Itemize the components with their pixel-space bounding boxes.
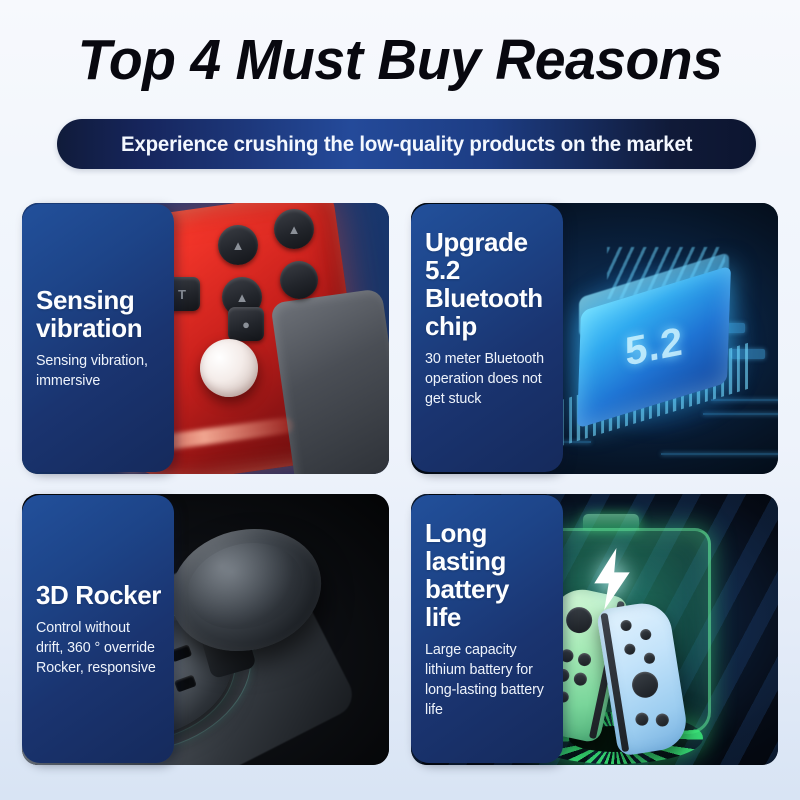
card-panel-sensing-vibration: Sensing vibration Sensing vibration, imm… xyxy=(22,204,174,472)
page-title: Top 4 Must Buy Reasons xyxy=(12,26,788,94)
feature-card-bluetooth-chip[interactable]: 5.2 Upgrade 5.2 Bluetooth chip 30 meter … xyxy=(411,203,778,474)
feature-card-battery-life[interactable]: Long lasting battery life Large capacity… xyxy=(411,494,778,765)
card-title: 3D Rocker xyxy=(36,581,174,609)
card-panel-bluetooth-chip: Upgrade 5.2 Bluetooth chip 30 meter Blue… xyxy=(411,204,563,472)
lightning-bolt-icon xyxy=(589,548,635,610)
page-header: Top 4 Must Buy Reasons Experience crushi… xyxy=(0,0,800,185)
feature-card-grid: ▲ ▲ ▲ T ● Sensing vibration Sensing vibr… xyxy=(22,203,778,765)
subtitle-banner: Experience crushing the low-quality prod… xyxy=(57,119,756,169)
feature-card-3d-rocker[interactable]: 3D Rocker Control without drift, 360 ° o… xyxy=(22,494,389,765)
card-description: Control without drift, 360 ° override Ro… xyxy=(36,618,174,678)
card-title: Sensing vibration xyxy=(36,286,174,342)
card-description: Large capacity lithium battery for long-… xyxy=(425,640,563,720)
card-description: 30 meter Bluetooth operation does not ge… xyxy=(425,349,563,409)
chip-version-label: 5.2 xyxy=(623,319,684,375)
feature-card-sensing-vibration[interactable]: ▲ ▲ ▲ T ● Sensing vibration Sensing vibr… xyxy=(22,203,389,474)
card-panel-3d-rocker: 3D Rocker Control without drift, 360 ° o… xyxy=(22,495,174,763)
card-panel-battery-life: Long lasting battery life Large capacity… xyxy=(411,495,563,763)
subtitle-text: Experience crushing the low-quality prod… xyxy=(121,132,692,157)
card-title: Long lasting battery life xyxy=(425,519,563,631)
card-description: Sensing vibration, immersive xyxy=(36,351,174,391)
card-title: Upgrade 5.2 Bluetooth chip xyxy=(425,228,563,340)
